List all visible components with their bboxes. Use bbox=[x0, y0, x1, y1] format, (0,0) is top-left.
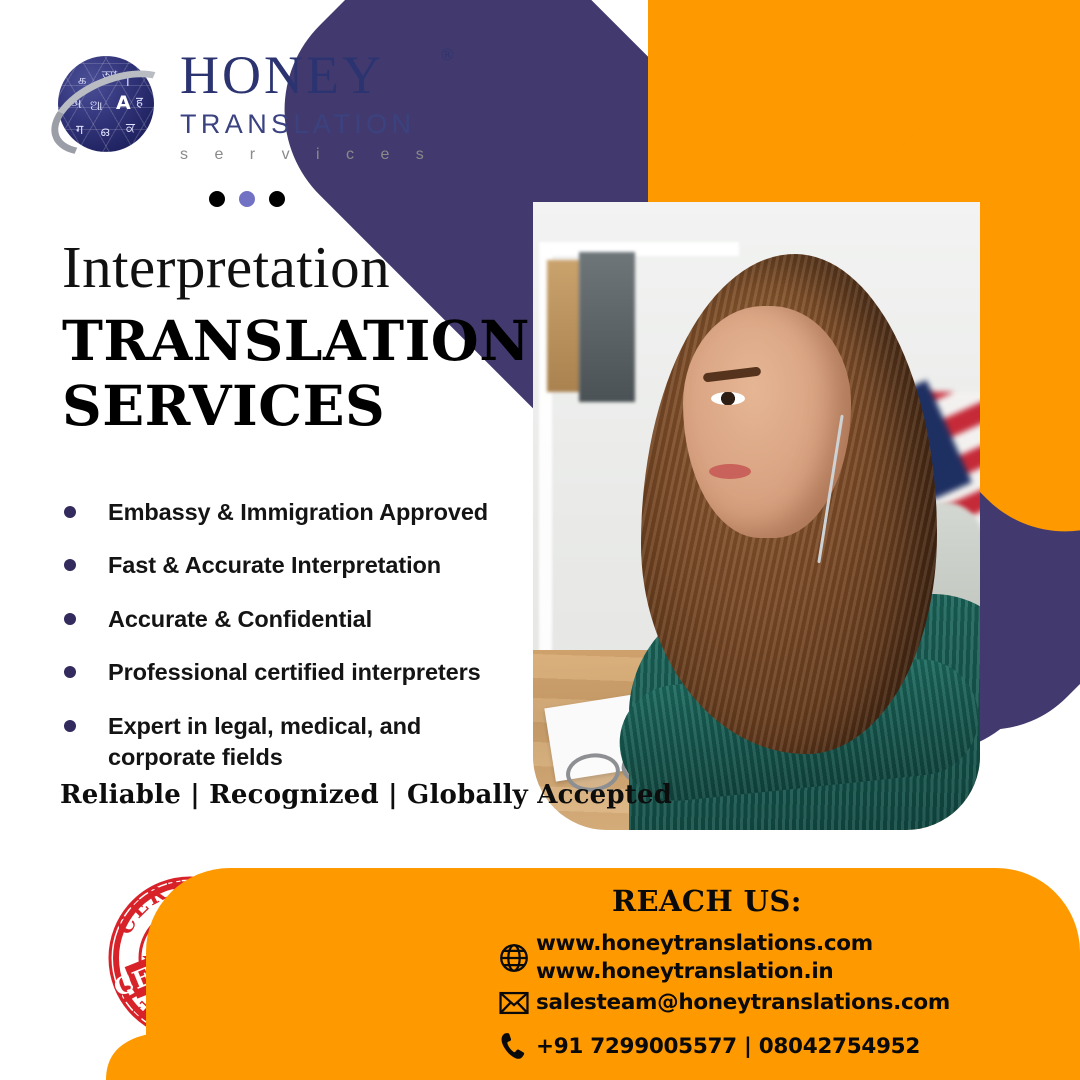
brand-line-services: s e r v i c e s bbox=[180, 147, 435, 163]
brand-logo[interactable]: க আ ا અ ଆ A ह ग ഒ ਕ HONEY ® TRANSLATION … bbox=[52, 48, 435, 163]
bullet-dot-icon bbox=[64, 720, 76, 732]
contact-panel-curve bbox=[106, 1000, 196, 1080]
bullet-dot-icon bbox=[64, 666, 76, 678]
bullet-dot-icon bbox=[64, 613, 76, 625]
phone-icon bbox=[492, 1030, 536, 1064]
list-item-label: Expert in legal, medical, and corporate … bbox=[108, 711, 453, 774]
headline-main-line1: TRANSLATION bbox=[62, 309, 532, 374]
website-primary[interactable]: www.honeytranslations.com bbox=[536, 930, 873, 958]
tagline: Reliable | Recognized | Globally Accepte… bbox=[60, 780, 672, 810]
list-item-label: Professional certified interpreters bbox=[108, 657, 481, 688]
feature-list: Embassy & Immigration Approved Fast & Ac… bbox=[56, 497, 526, 796]
dot-1 bbox=[209, 191, 225, 207]
list-item: Expert in legal, medical, and corporate … bbox=[56, 711, 526, 774]
list-item: Professional certified interpreters bbox=[56, 657, 526, 688]
headline-main: TRANSLATION SERVICES bbox=[62, 309, 532, 439]
headline-script: Interpretation bbox=[62, 238, 532, 297]
dot-2 bbox=[239, 191, 255, 207]
globe-icon: க আ ا અ ଆ A ह ग ഒ ਕ bbox=[52, 50, 164, 162]
phone-numbers[interactable]: +91 7299005577 | 08042754952 bbox=[536, 1033, 920, 1061]
list-item-label: Embassy & Immigration Approved bbox=[108, 497, 488, 528]
bullet-dot-icon bbox=[64, 506, 76, 518]
envelope-icon bbox=[492, 986, 536, 1020]
photo-book bbox=[547, 260, 581, 392]
dot-3 bbox=[269, 191, 285, 207]
email-address[interactable]: salesteam@honeytranslations.com bbox=[536, 989, 950, 1017]
contact-row-email[interactable]: salesteam@honeytranslations.com bbox=[492, 986, 950, 1020]
hero-photo bbox=[533, 202, 980, 830]
list-item: Embassy & Immigration Approved bbox=[56, 497, 526, 528]
website-secondary[interactable]: www.honeytranslation.in bbox=[536, 958, 873, 986]
list-item-label: Fast & Accurate Interpretation bbox=[108, 550, 441, 581]
contact-heading: REACH US: bbox=[612, 884, 802, 918]
contact-row-phone[interactable]: +91 7299005577 | 08042754952 bbox=[492, 1030, 920, 1064]
photo-book-dark bbox=[579, 252, 635, 402]
bullet-dot-icon bbox=[64, 559, 76, 571]
poster-canvas: க আ ا અ ଆ A ह ग ഒ ਕ HONEY ® TRANSLATION … bbox=[0, 0, 1080, 1080]
globe-icon bbox=[492, 941, 536, 975]
photo-lips bbox=[709, 464, 751, 479]
brand-line-translation: TRANSLATION bbox=[180, 111, 435, 138]
brand-name: HONEY ® bbox=[180, 48, 435, 102]
headline-block: Interpretation TRANSLATION SERVICES bbox=[62, 238, 532, 439]
registered-trademark-icon: ® bbox=[441, 46, 457, 63]
list-item: Fast & Accurate Interpretation bbox=[56, 550, 526, 581]
contact-row-website[interactable]: www.honeytranslations.com www.honeytrans… bbox=[492, 930, 873, 985]
logo-dots-divider bbox=[209, 191, 285, 207]
list-item-label: Accurate & Confidential bbox=[108, 604, 372, 635]
photo-eye bbox=[711, 392, 745, 405]
list-item: Accurate & Confidential bbox=[56, 604, 526, 635]
headline-main-line2: SERVICES bbox=[62, 374, 532, 439]
brand-name-text: HONEY bbox=[180, 45, 384, 105]
